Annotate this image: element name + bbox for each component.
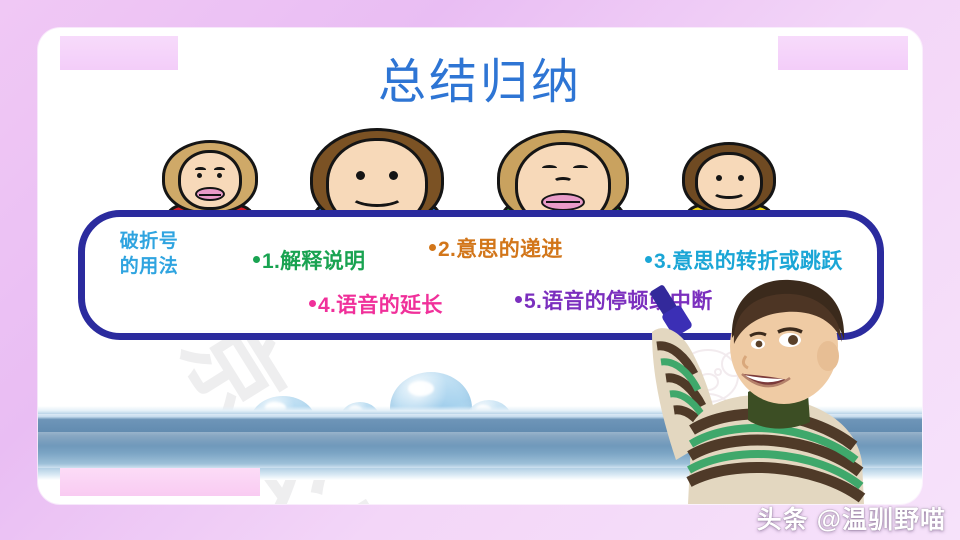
- usage-item-4: 4.语音的延长: [309, 289, 443, 319]
- bullet-dot: [253, 256, 260, 263]
- bullet-dot: [515, 296, 522, 303]
- page-title: 总结归纳: [38, 42, 922, 112]
- kid-frown: [553, 177, 573, 186]
- kid-mouth: [350, 185, 404, 207]
- decor-bar-bottom-left: [60, 468, 260, 496]
- usage-item-1-label: 1.解释说明: [262, 250, 365, 273]
- usage-item-1: 1.解释说明: [253, 245, 365, 275]
- callout-label: 破折号的用法: [113, 229, 185, 279]
- bullet-dot: [429, 244, 436, 251]
- slide-canvas: 北京公贝动漫 总结归纳: [0, 0, 960, 540]
- usage-item-2-label: 2.意思的递进: [438, 238, 563, 261]
- bullet-dot: [645, 256, 652, 263]
- bullet-dot: [309, 300, 316, 307]
- boy-photo: [648, 274, 886, 504]
- usage-item-2: 2.意思的递进: [429, 233, 563, 263]
- kid-mouth: [541, 193, 585, 211]
- kid-mouth: [195, 187, 225, 201]
- slide-card: 北京公贝动漫 总结归纳: [38, 28, 922, 504]
- usage-item-4-label: 4.语音的延长: [318, 294, 443, 317]
- kid-face: [695, 152, 763, 212]
- usage-item-3: 3.意思的转折或跳跃: [645, 245, 843, 275]
- channel-watermark: 头条 @温驯野喵: [757, 500, 946, 536]
- usage-item-3-label: 3.意思的转折或跳跃: [654, 250, 843, 273]
- kid-face: [178, 150, 242, 210]
- kid-mouth: [712, 185, 746, 199]
